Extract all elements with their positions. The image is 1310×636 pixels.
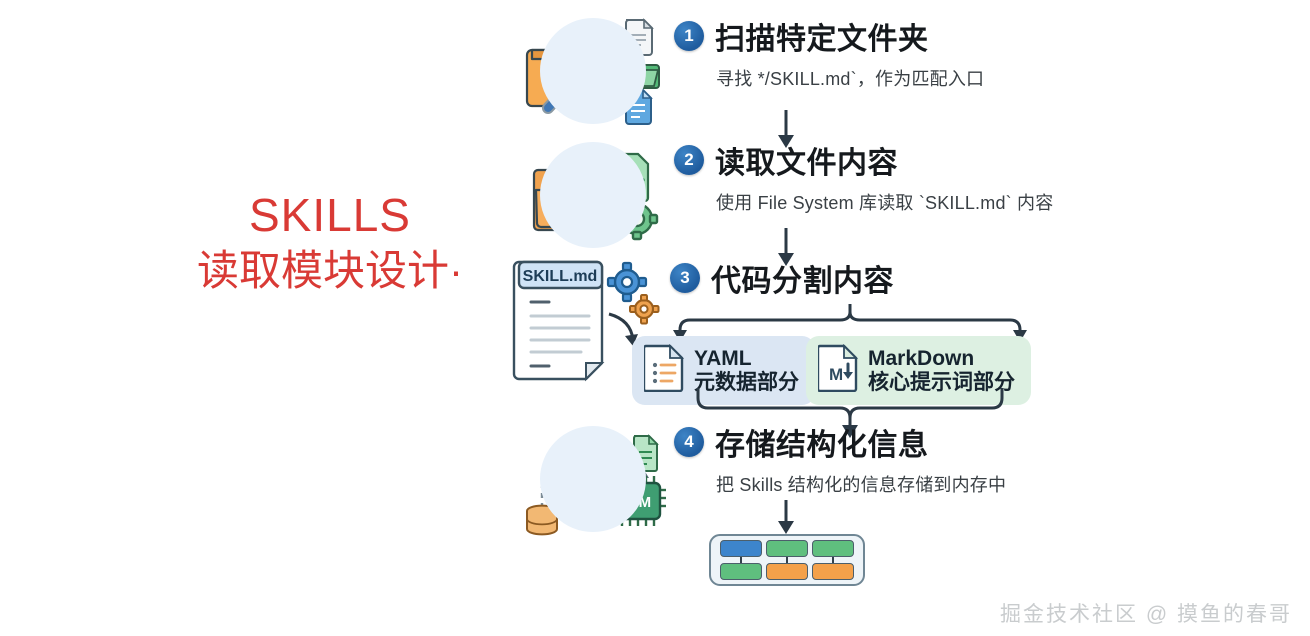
memory-cell-top — [720, 540, 762, 557]
memory-cell-bottom — [766, 563, 808, 580]
step-4: RAM 4 存储结构化信息 把 Skills 结构化的信息存储到内存中 — [518, 420, 1006, 540]
folder-search-icon — [518, 14, 668, 126]
step-description: 把 Skills 结构化的信息存储到内存中 — [716, 471, 1006, 497]
memory-cell-top — [766, 540, 808, 557]
step-number-badge: 3 — [670, 263, 700, 293]
doc-filename-label: SKILL.md — [523, 268, 598, 285]
step-title: 存储结构化信息 — [715, 420, 929, 464]
memory-structure — [709, 534, 865, 586]
memory-column — [812, 540, 854, 580]
diagram-canvas: SKILLS 读取模块设计· — [0, 0, 1310, 636]
markdown-title: MarkDown — [868, 347, 1015, 371]
step-description: 使用 File System 库读取 `SKILL.md` 内容 — [716, 189, 1053, 215]
step-number-badge: 2 — [674, 145, 704, 175]
memory-cell-bottom — [812, 563, 854, 580]
step-number-badge: 1 — [674, 21, 704, 51]
step-number-badge: 4 — [674, 427, 704, 457]
step-1: 1 扫描特定文件夹 寻找 */SKILL.md`，作为匹配入口 — [518, 14, 984, 126]
step-title: 代码分割内容 — [711, 256, 894, 300]
folder-document-gear-icon — [518, 138, 668, 250]
memory-cell-top — [812, 540, 854, 557]
memory-column — [766, 540, 808, 580]
watermark-text: 掘金技术社区 @ 摸鱼的春哥 — [1000, 603, 1292, 626]
database-ram-icon: RAM — [518, 420, 668, 540]
step-title: 读取文件内容 — [715, 138, 898, 182]
page-title: SKILLS 读取模块设计· — [140, 188, 520, 296]
title-main: SKILLS — [140, 188, 520, 242]
title-subtitle: 读取模块设计· — [140, 246, 520, 296]
step-title: 扫描特定文件夹 — [715, 14, 929, 58]
memory-column — [720, 540, 762, 580]
svg-text:M: M — [829, 365, 843, 384]
memory-cell-bottom — [720, 563, 762, 580]
watermark: 掘金技术社区 @ 摸鱼的春哥 — [1000, 598, 1292, 628]
step-description: 寻找 */SKILL.md`，作为匹配入口 — [716, 65, 984, 91]
yaml-title: YAML — [694, 347, 799, 371]
